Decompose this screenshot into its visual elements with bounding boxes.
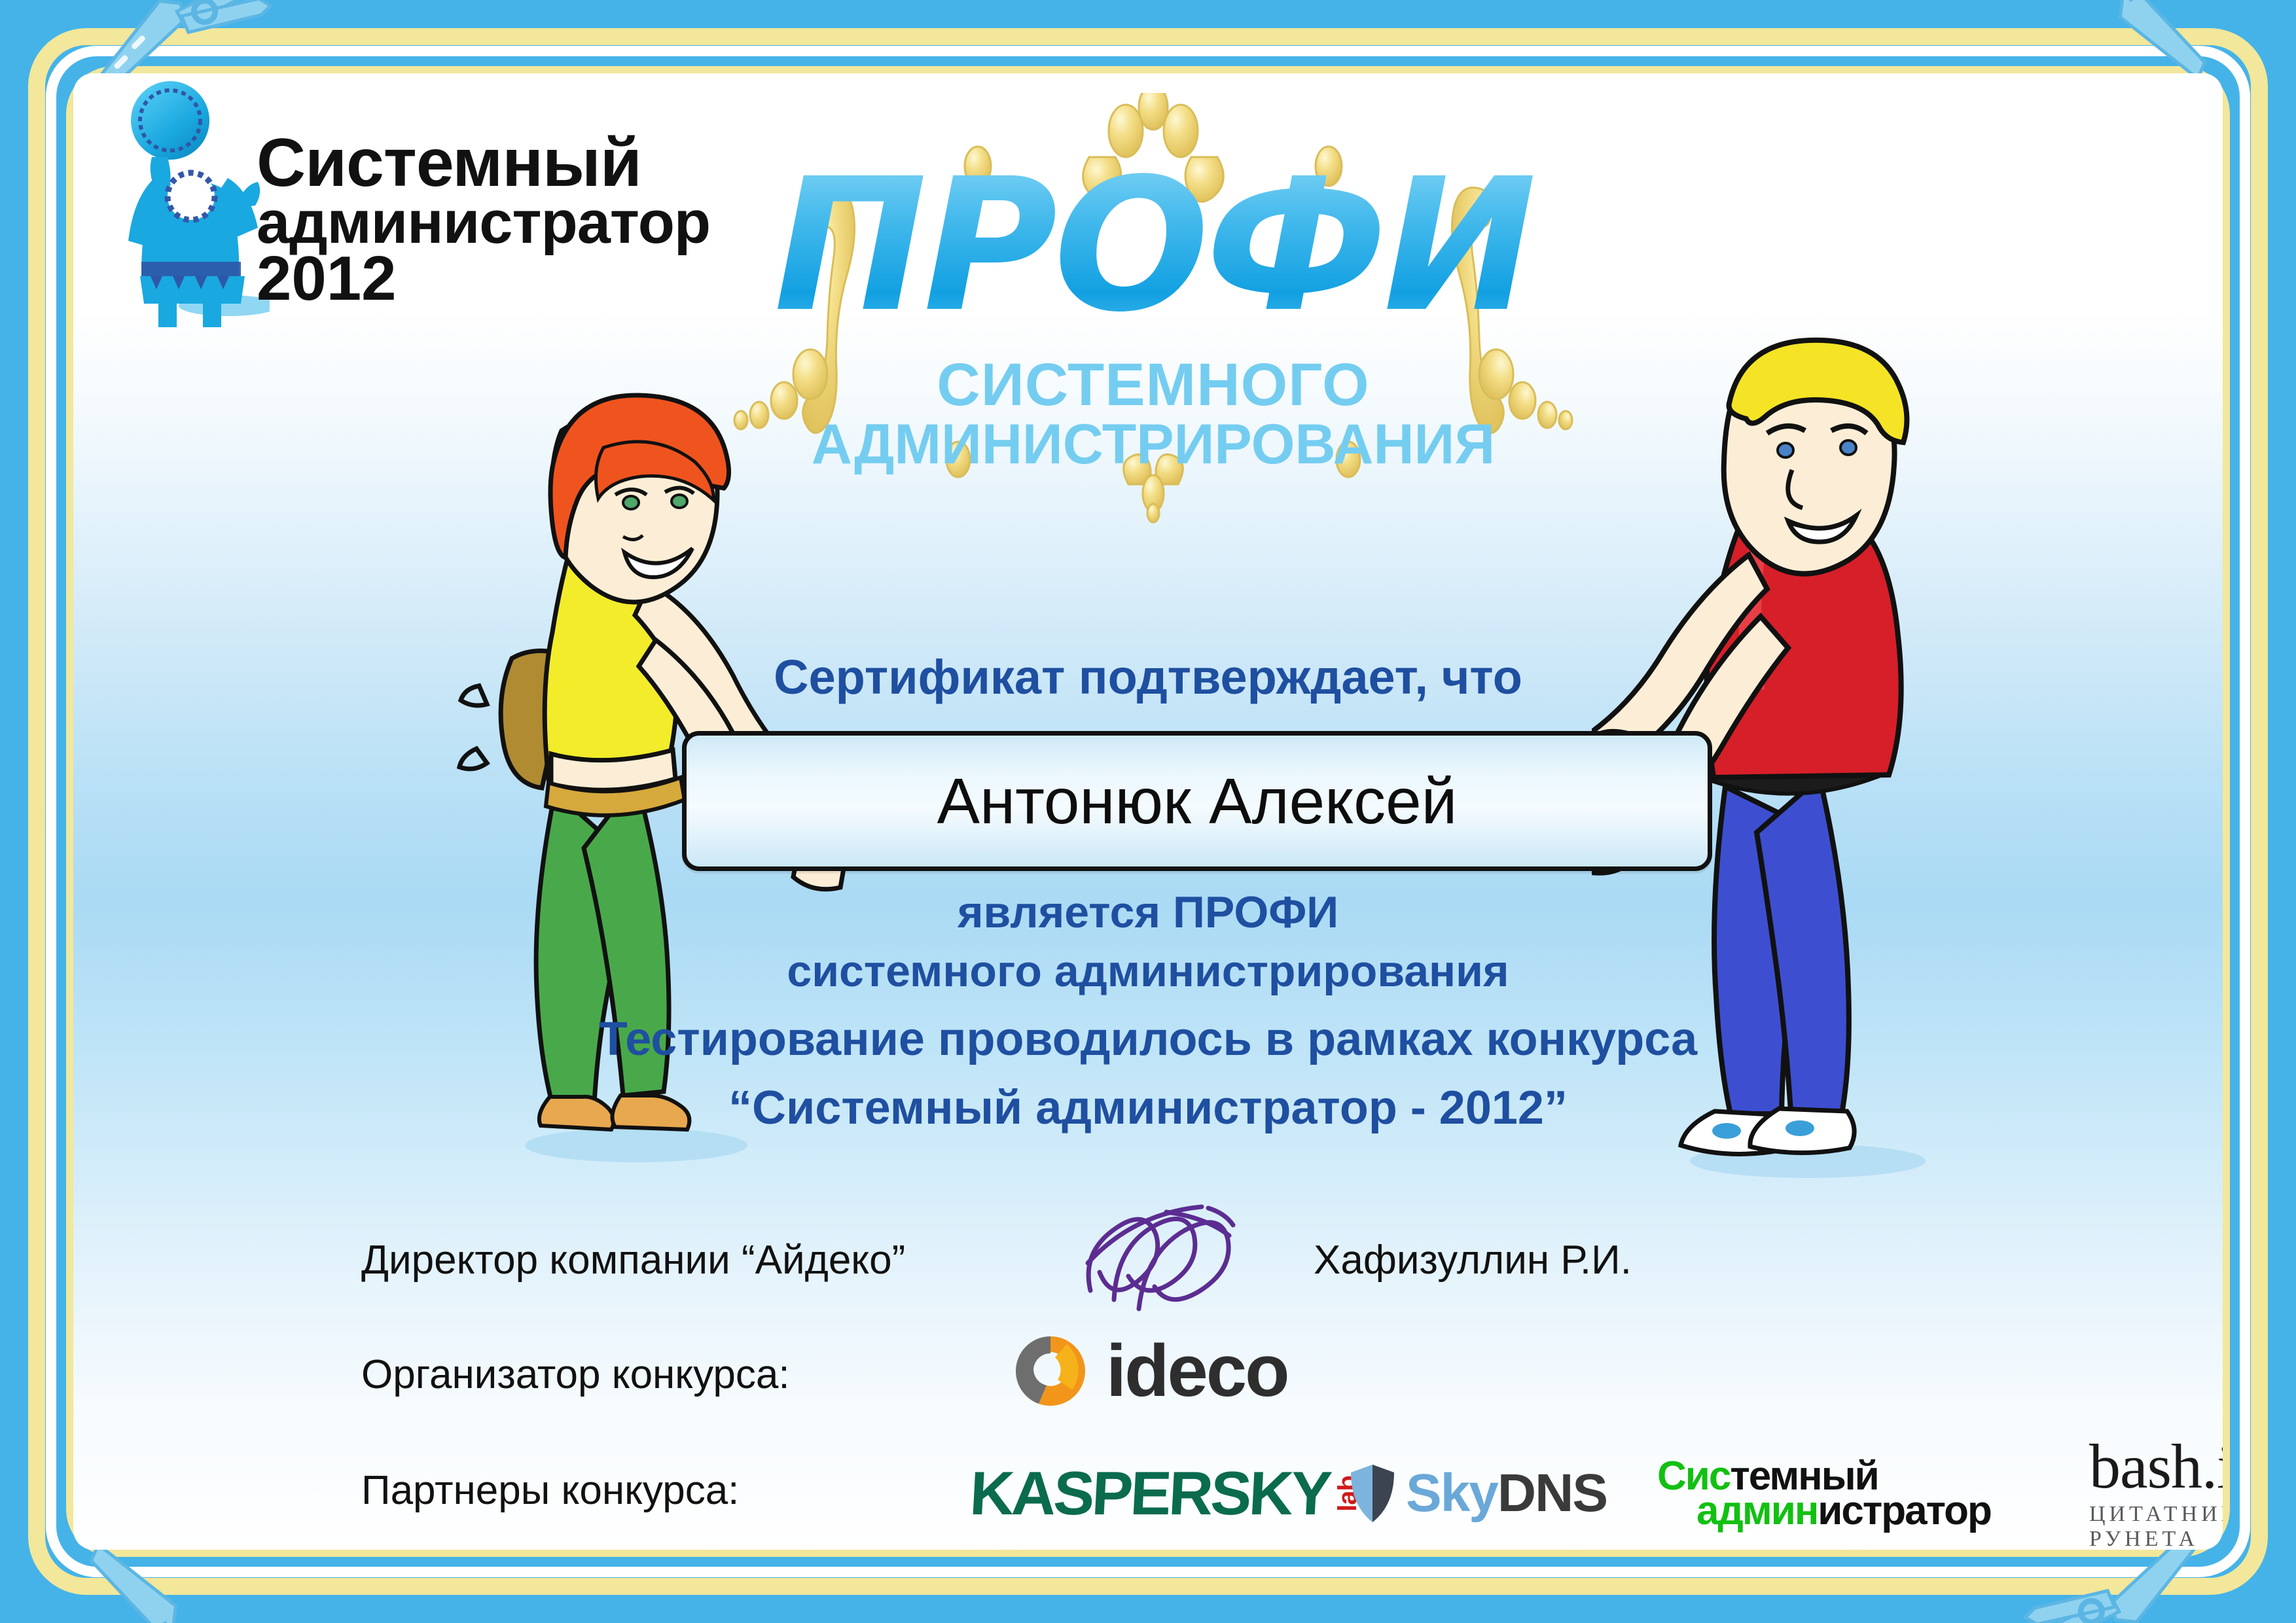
confirm-text: Сертификат подтверждает, что <box>73 649 2223 705</box>
certificate-root: Системный администратор 2012 <box>0 0 2296 1623</box>
hero-logo: ПРОФИ СИСТЕМНОГО АДМИНИСТРИРОВАНИЯ <box>728 93 1579 525</box>
sysadmin-row2-green: админ <box>1696 1488 1818 1533</box>
recipient-nameplate: Антонюк Алексей <box>682 731 1712 871</box>
hero-subtitle-line1: СИСТЕМНОГО <box>728 355 1579 416</box>
sysadmin-row2-black: истратор <box>1818 1488 1991 1533</box>
partners-row: Партнеры конкурса: KASPERSKY lab Sky DNS… <box>296 1441 2194 1550</box>
hero-title: ПРОФИ <box>774 139 1535 353</box>
ideco-wordmark: ideco <box>1106 1334 1288 1408</box>
brand-logo-line2: администратор <box>257 195 597 251</box>
ideco-logo: ideco <box>1009 1330 1288 1412</box>
brand-logo-text: Системный администратор 2012 <box>257 132 597 308</box>
brand-logo: Системный администратор 2012 <box>99 80 597 420</box>
signature-role-label: Директор компании “Айдеко” <box>361 1237 905 1283</box>
ideco-ring-icon <box>1009 1330 1092 1412</box>
skydns-shield-icon <box>1350 1463 1395 1524</box>
recipient-name: Антонюк Алексей <box>937 764 1458 838</box>
kaspersky-wordmark: KASPERSKY <box>968 1458 1331 1529</box>
signature-row: Директор компании “Айдеко” Хафизуллин Р.… <box>296 1225 1736 1323</box>
sysadmin-logo-row2: администратор <box>1696 1493 1991 1528</box>
partner-sysadmin: Системный администратор <box>1657 1441 1991 1546</box>
skydns-sky-label: Sky <box>1406 1463 1498 1524</box>
bashim-wordmark: bash.im <box>2089 1435 2223 1498</box>
organizer-row: Организатор конкурса: ideco <box>296 1333 1736 1438</box>
body-line-4: “Системный администратор - 2012” <box>73 1081 2223 1135</box>
body-line-1: является ПРОФИ <box>73 887 2223 938</box>
eskimo-with-medal-icon <box>99 80 270 355</box>
handwritten-signature-icon <box>1068 1192 1278 1323</box>
brand-logo-line3: 2012 <box>257 250 597 308</box>
certificate-canvas: Системный администратор 2012 <box>73 73 2223 1550</box>
brand-logo-line1: Системный <box>257 132 597 195</box>
hero-subtitle-line2: АДМИНИСТРИРОВАНИЯ <box>728 416 1579 474</box>
partner-kaspersky: KASPERSKY lab <box>970 1441 1363 1546</box>
partners-label: Партнеры конкурса: <box>361 1467 739 1514</box>
body-line-2: системного администрирования <box>73 946 2223 997</box>
partner-skydns: Sky DNS <box>1350 1441 1607 1546</box>
body-line-3: Тестирование проводилось в рамках конкур… <box>73 1012 2223 1066</box>
bashim-tagline: ЦИТАТНИК РУНЕТА <box>2089 1502 2223 1550</box>
signer-name: Хафизуллин Р.И. <box>1314 1237 1632 1283</box>
organizer-label: Организатор конкурса: <box>361 1351 790 1398</box>
skydns-dns-label: DNS <box>1498 1463 1607 1524</box>
partner-bashim: bash.im ЦИТАТНИК РУНЕТА <box>2089 1441 2223 1546</box>
